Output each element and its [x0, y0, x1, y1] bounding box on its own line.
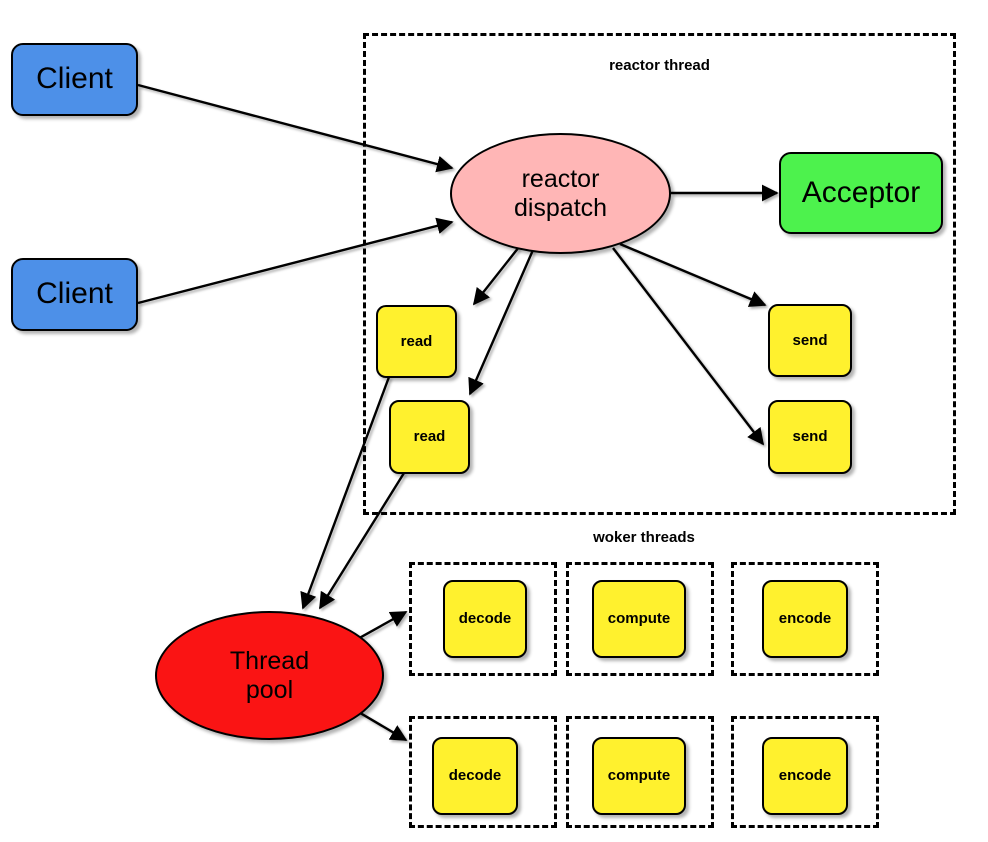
node-client-bottom-label: Client [36, 277, 113, 312]
node-encode-top[interactable]: encode [762, 580, 848, 658]
node-reactor-dispatch-label-line1: reactor [522, 165, 600, 194]
node-decode-top[interactable]: decode [443, 580, 527, 658]
node-send-bottom[interactable]: send [768, 400, 852, 474]
node-thread-pool-label-line1: Thread [230, 647, 309, 676]
node-read-top[interactable]: read [376, 305, 457, 378]
node-read-top-label: read [401, 333, 433, 350]
diagram-canvas: reactor thread woker threads [0, 0, 988, 842]
node-compute-top-label: compute [608, 610, 671, 627]
node-acceptor[interactable]: Acceptor [779, 152, 943, 234]
node-thread-pool[interactable]: Thread pool [155, 611, 384, 740]
node-acceptor-label: Acceptor [802, 176, 920, 211]
node-compute-bottom[interactable]: compute [592, 737, 686, 815]
node-client-bottom[interactable]: Client [11, 258, 138, 331]
node-send-bottom-label: send [792, 428, 827, 445]
node-send-top[interactable]: send [768, 304, 852, 377]
node-read-bottom-label: read [414, 428, 446, 445]
node-read-bottom[interactable]: read [389, 400, 470, 474]
node-compute-top[interactable]: compute [592, 580, 686, 658]
node-encode-bottom-label: encode [779, 767, 832, 784]
node-reactor-dispatch[interactable]: reactor dispatch [450, 133, 671, 254]
node-compute-bottom-label: compute [608, 767, 671, 784]
node-client-top[interactable]: Client [11, 43, 138, 116]
node-encode-top-label: encode [779, 610, 832, 627]
node-decode-bottom[interactable]: decode [432, 737, 518, 815]
node-client-top-label: Client [36, 62, 113, 97]
group-worker-threads-label: woker threads [409, 529, 879, 546]
node-encode-bottom[interactable]: encode [762, 737, 848, 815]
node-thread-pool-label-line2: pool [246, 676, 293, 705]
group-reactor-thread-label: reactor thread [363, 57, 956, 74]
node-send-top-label: send [792, 332, 827, 349]
node-decode-top-label: decode [459, 610, 512, 627]
node-reactor-dispatch-label-line2: dispatch [514, 194, 607, 223]
node-decode-bottom-label: decode [449, 767, 502, 784]
